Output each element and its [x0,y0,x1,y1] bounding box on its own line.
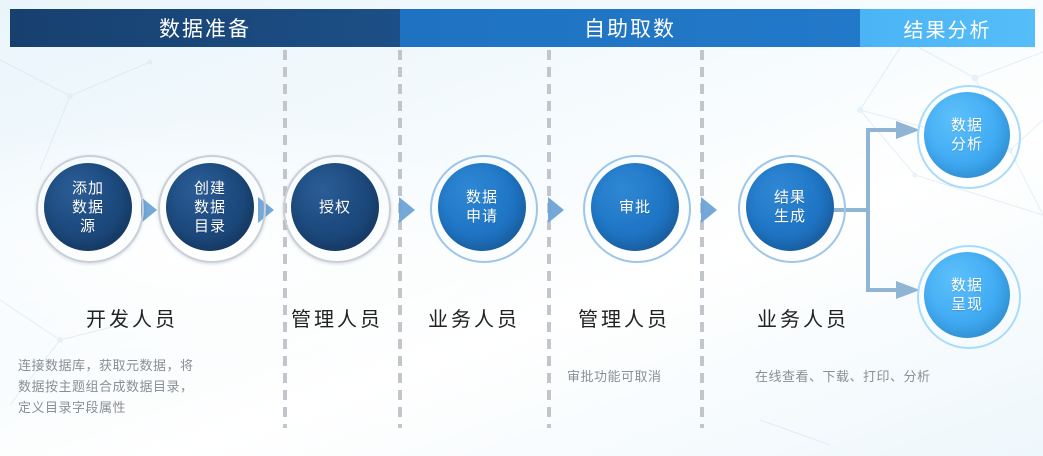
phase-header-data-prep: 数据准备 [10,9,400,47]
node-add-datasource[interactable]: 添加 数据 源 [44,163,132,251]
node-data-request[interactable]: 数据 申请 [438,163,526,251]
role-label-developer-1: 开发人员 [86,303,178,332]
node-create-catalog[interactable]: 创建 数据 目录 [166,163,254,251]
role-label-admin-1: 管理人员 [291,303,383,332]
arrow-approval-to-result [701,197,717,223]
node-label: 添加 数据 源 [72,179,104,236]
column-separator-1 [283,50,287,428]
node-approval[interactable]: 审批 [591,163,679,251]
node-label: 授权 [319,198,351,217]
arrow-request-to-approval [548,197,564,223]
role-label-admin-2: 管理人员 [578,303,670,332]
node-label: 数据 申请 [466,188,498,226]
phase-header-label: 数据准备 [159,13,251,43]
phase-header-label: 自助取数 [584,13,676,43]
role-label-business-2: 业务人员 [757,303,849,332]
note-data-prep: 连接数据库，获取元数据，将 数据按主题组合成数据目录， 定义目录字段属性 [18,355,273,418]
node-data-analysis[interactable]: 数据 分析 [924,92,1010,178]
column-separator-3 [547,50,551,428]
flowchart-canvas: 数据准备 自助取数 结果分析 添加 数据 源 创建 数据 目录 授权 [0,0,1043,456]
arrow-authorize-to-request [399,197,415,223]
node-authorize[interactable]: 授权 [291,163,379,251]
node-result-generate[interactable]: 结果 生成 [746,163,834,251]
node-label: 数据 呈现 [951,276,983,314]
node-label: 结果 生成 [774,188,806,226]
phase-header-self-serve: 自助取数 [400,9,860,47]
node-label: 数据 分析 [951,116,983,154]
node-data-present[interactable]: 数据 呈现 [924,252,1010,338]
node-label: 审批 [619,198,651,217]
note-approval: 审批功能可取消 [567,366,757,387]
note-result: 在线查看、下载、打印、分析 [755,366,1025,387]
phase-header-label: 结果分析 [904,14,992,43]
phase-header-result: 结果分析 [860,9,1035,47]
role-label-business-1: 业务人员 [428,303,520,332]
node-label: 创建 数据 目录 [194,179,226,236]
column-separator-2 [398,50,402,428]
